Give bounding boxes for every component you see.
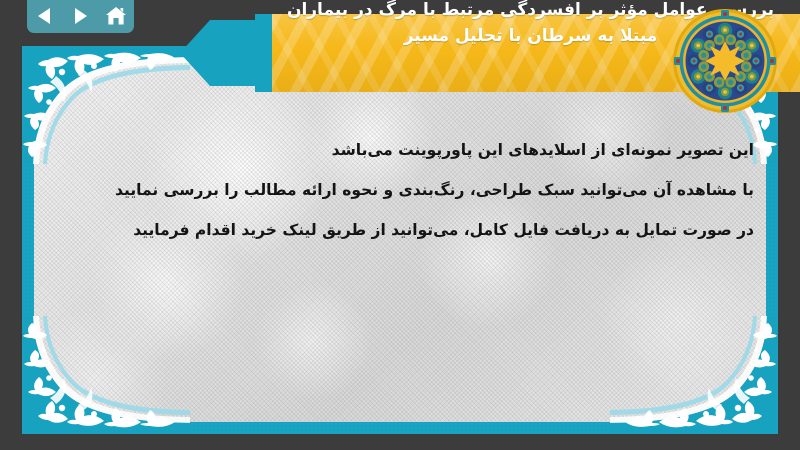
body-line: این تصویر نمونه‌ای از اسلایدهای این پاور… <box>60 130 754 170</box>
next-slide-button[interactable] <box>67 4 93 28</box>
home-button[interactable] <box>103 4 129 28</box>
home-icon <box>105 5 127 27</box>
triangle-left-icon <box>35 6 55 26</box>
body-line: با مشاهده آن می‌توانید سبک طراحی، رنگ‌بن… <box>60 170 754 210</box>
slide-body-text: این تصویر نمونه‌ای از اسلایدهای این پاور… <box>60 130 754 250</box>
body-line: در صورت تمایل به دریافت فایل کامل، می‌تو… <box>60 210 754 250</box>
slide-viewer: بررسی عوامل مؤثر بر افسردگی مرتبط با مرگ… <box>0 0 800 450</box>
circular-mandala-medallion-icon <box>672 8 778 114</box>
banner-teal-edge <box>255 14 273 92</box>
triangle-right-icon <box>70 6 90 26</box>
slide-navigation-bar[interactable] <box>27 0 134 33</box>
previous-slide-button[interactable] <box>32 4 58 28</box>
